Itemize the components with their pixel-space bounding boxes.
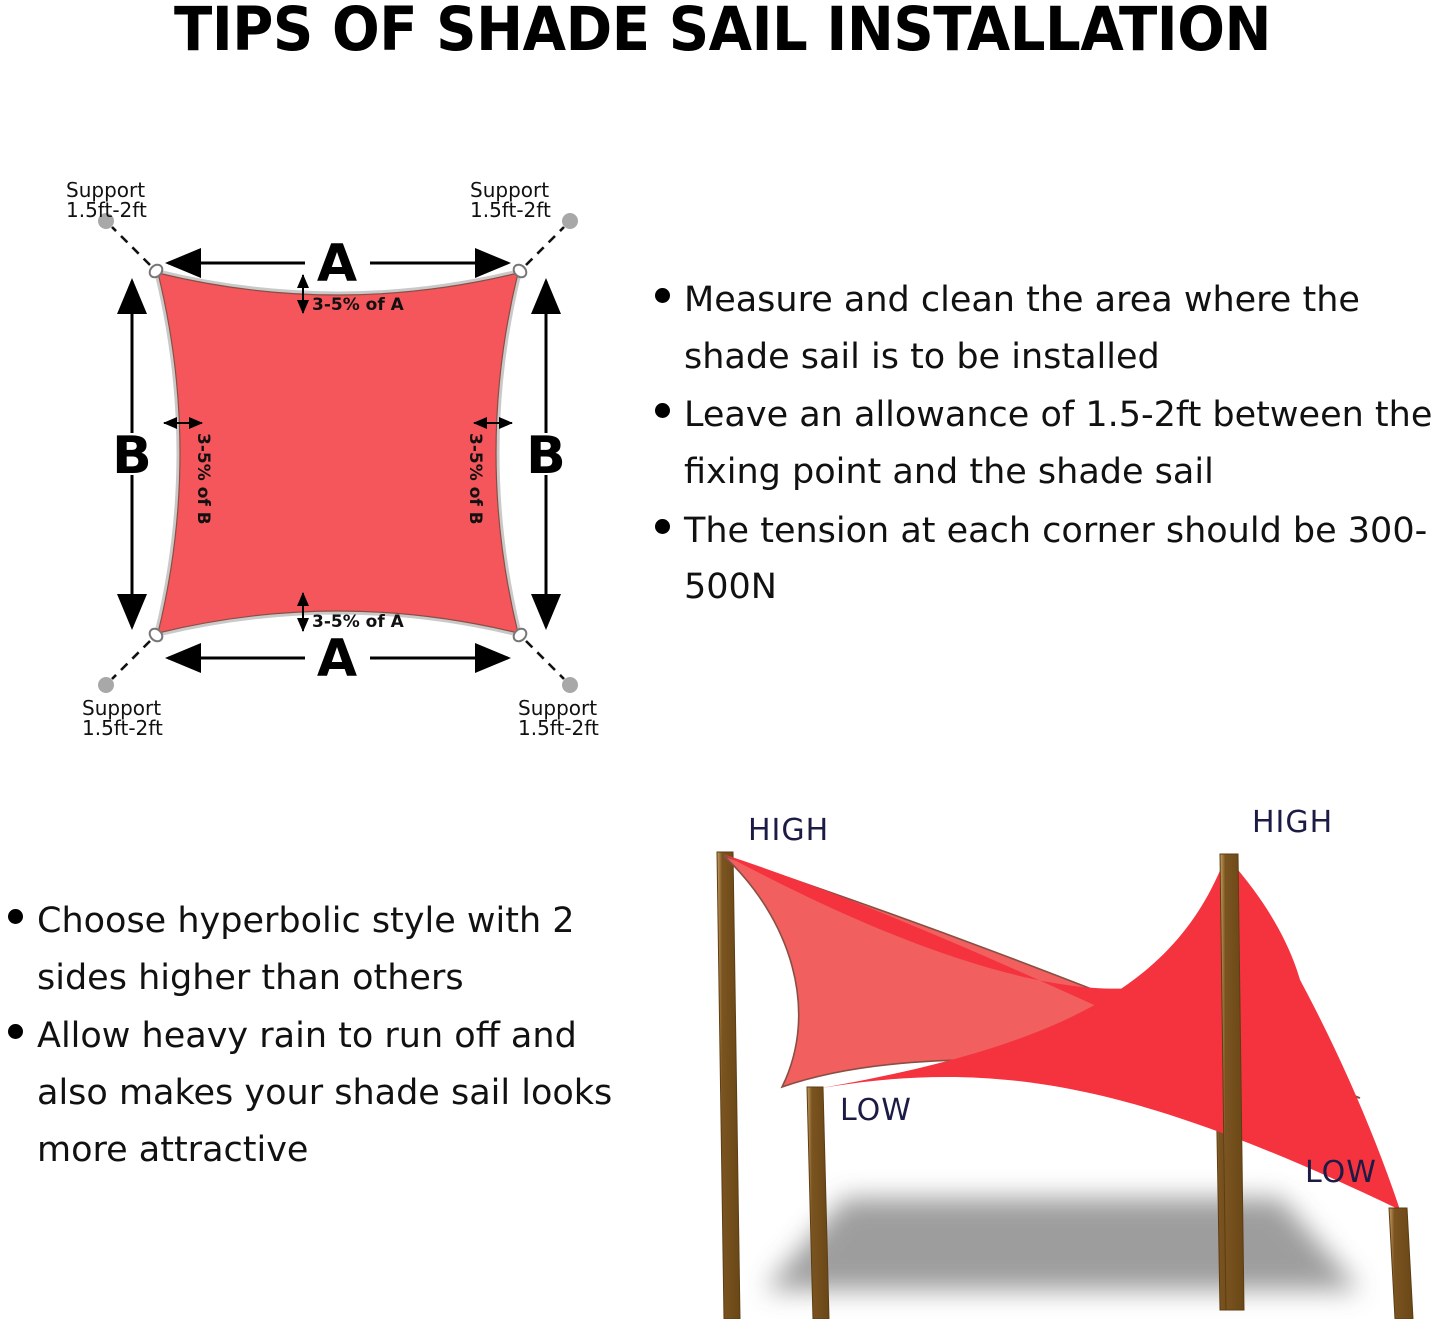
dimension-label-right-B: B <box>526 426 566 486</box>
list-item: The tension at each corner should be 300… <box>655 503 1445 616</box>
support-label-top-left: Support 1.5ft-2ft <box>66 178 147 222</box>
list-item: Leave an allowance of 1.5-2ft between th… <box>655 387 1445 500</box>
page-title: TIPS OF SHADE SAIL INSTALLATION <box>58 0 1387 62</box>
post-low-right-front <box>1389 1208 1413 1319</box>
tips-list-left: Choose hyperbolic style with 2 sides hig… <box>8 893 623 1180</box>
bullet-dot-icon <box>655 403 670 418</box>
curvature-note-right-text: 3-5% of B <box>465 433 485 525</box>
label-high-left: HIGH <box>748 813 829 848</box>
bullet-dot-icon <box>8 909 23 924</box>
dimension-label-top-A: A <box>317 234 357 294</box>
label-low-left: LOW <box>840 1093 912 1128</box>
hyperbolic-sail-diagram: HIGH HIGH LOW LOW <box>660 790 1445 1319</box>
support-label-line2: 1.5ft-2ft <box>82 716 163 740</box>
infographic-page: TIPS OF SHADE SAIL INSTALLATION <box>0 0 1445 1319</box>
list-item: Choose hyperbolic style with 2 sides hig… <box>8 893 623 1006</box>
curvature-note-left-text: 3-5% of B <box>193 433 213 525</box>
dimension-label-bottom-A: A <box>317 629 357 689</box>
square-sail-diagram: Support 1.5ft-2ft Support 1.5ft-2ft Supp… <box>40 165 630 735</box>
tip-text: Measure and clean the area where the sha… <box>684 272 1445 385</box>
tips-list-right: Measure and clean the area where the sha… <box>655 272 1445 618</box>
tip-text: Allow heavy rain to run off and also mak… <box>37 1008 623 1178</box>
tip-text: Leave an allowance of 1.5-2ft between th… <box>684 387 1445 500</box>
post-high-left <box>717 852 740 1319</box>
tip-text: Choose hyperbolic style with 2 sides hig… <box>37 893 623 1006</box>
dimension-label-left-B: B <box>112 426 152 486</box>
support-label-line2: 1.5ft-2ft <box>470 198 551 222</box>
curvature-note-bottom-text: 3-5% of A <box>312 612 405 632</box>
label-low-right: LOW <box>1305 1155 1377 1190</box>
bullet-dot-icon <box>655 519 670 534</box>
list-item: Allow heavy rain to run off and also mak… <box>8 1008 623 1178</box>
list-item: Measure and clean the area where the sha… <box>655 272 1445 385</box>
support-label-line2: 1.5ft-2ft <box>66 198 147 222</box>
bullet-dot-icon <box>655 288 670 303</box>
support-label-bottom-left: Support 1.5ft-2ft <box>82 696 163 740</box>
support-label-top-right: Support 1.5ft-2ft <box>470 178 551 222</box>
bullet-dot-icon <box>8 1024 23 1039</box>
curvature-note-top-text: 3-5% of A <box>312 295 405 315</box>
ground-shadow <box>765 1198 1360 1290</box>
label-high-right: HIGH <box>1252 805 1333 840</box>
tip-text: The tension at each corner should be 300… <box>684 503 1445 616</box>
support-label-line2: 1.5ft-2ft <box>518 716 599 740</box>
support-label-bottom-right: Support 1.5ft-2ft <box>518 696 599 740</box>
